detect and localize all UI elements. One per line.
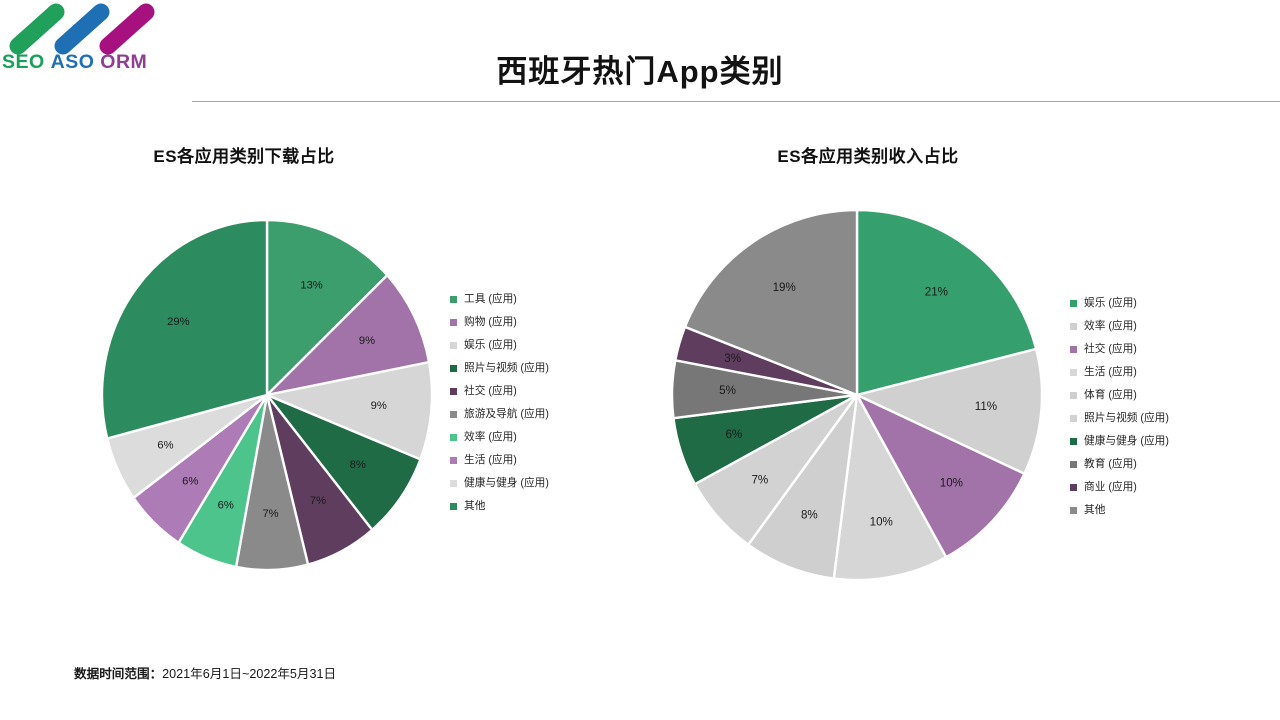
legend-item[interactable]: 娱乐 (应用) bbox=[450, 334, 630, 357]
page-title: 西班牙热门App类别 bbox=[190, 52, 1090, 92]
legend-item-label: 健康与健身 (应用) bbox=[1084, 436, 1169, 447]
pie-slice-label: 8% bbox=[801, 508, 818, 521]
chart-panel-downloads: ES各应用类别下载占比 13%9%9%8%7%7%6%6%6%29% 工具 (应… bbox=[60, 120, 620, 640]
legend-item-label: 娱乐 (应用) bbox=[1084, 298, 1137, 309]
legend-item-label: 照片与视频 (应用) bbox=[464, 363, 549, 374]
chart-title-revenue: ES各应用类别收入占比 bbox=[568, 142, 1168, 167]
legend-item[interactable]: 社交 (应用) bbox=[450, 380, 630, 403]
logo-wordmark: SEO ASO ORM bbox=[2, 51, 178, 77]
legend-item[interactable]: 健康与健身 (应用) bbox=[450, 472, 630, 495]
pie-slice-label: 6% bbox=[157, 440, 173, 452]
legend-item-label: 其他 bbox=[1084, 505, 1105, 516]
pie-slice-label: 7% bbox=[262, 508, 278, 520]
data-range-label: 数据时间范围： bbox=[74, 667, 162, 681]
legend-swatch-icon bbox=[1070, 484, 1077, 491]
legend-item-label: 旅游及导航 (应用) bbox=[464, 409, 549, 420]
brand-logo: SEO ASO ORM bbox=[0, 0, 180, 82]
legend-swatch-icon bbox=[450, 319, 457, 326]
legend-swatch-icon bbox=[450, 296, 457, 303]
pie-slice-label: 13% bbox=[300, 280, 322, 292]
pie-slice-label: 10% bbox=[940, 477, 963, 490]
legend-item-label: 照片与视频 (应用) bbox=[1084, 413, 1169, 424]
legend-item[interactable]: 社交 (应用) bbox=[1070, 338, 1260, 361]
legend-swatch-icon bbox=[450, 388, 457, 395]
pie-slice-label: 9% bbox=[359, 335, 375, 347]
logo-word-seo: SEO bbox=[2, 51, 45, 74]
pie-slice-label: 6% bbox=[218, 500, 234, 512]
legend-item-label: 效率 (应用) bbox=[1084, 321, 1137, 332]
pie-slice-label: 11% bbox=[975, 400, 997, 413]
legend-swatch-icon bbox=[1070, 461, 1077, 468]
legend-item-label: 生活 (应用) bbox=[464, 455, 517, 466]
legend-swatch-icon bbox=[1070, 415, 1077, 422]
legend-item[interactable]: 效率 (应用) bbox=[450, 426, 630, 449]
header-divider bbox=[192, 101, 1280, 102]
pie-chart-revenue-svg: 21%11%10%10%8%7%6%5%3%19% bbox=[672, 210, 1042, 580]
legend-item-label: 其他 bbox=[464, 501, 485, 512]
data-range-value: 2021年6月1日~2022年5月31日 bbox=[162, 667, 336, 681]
pie-slice-label: 3% bbox=[724, 352, 741, 365]
legend-item[interactable]: 购物 (应用) bbox=[450, 311, 630, 334]
legend-item[interactable]: 商业 (应用) bbox=[1070, 476, 1260, 499]
legend-item-label: 生活 (应用) bbox=[1084, 367, 1137, 378]
legend-item[interactable]: 其他 bbox=[1070, 499, 1260, 522]
legend-swatch-icon bbox=[1070, 507, 1077, 514]
legend-item[interactable]: 旅游及导航 (应用) bbox=[450, 403, 630, 426]
legend-item-label: 健康与健身 (应用) bbox=[464, 478, 549, 489]
legend-swatch-icon bbox=[450, 365, 457, 372]
legend-item[interactable]: 生活 (应用) bbox=[1070, 361, 1260, 384]
legend-item-label: 体育 (应用) bbox=[1084, 390, 1137, 401]
logo-word-orm: ORM bbox=[100, 51, 147, 74]
pie-chart-downloads: 13%9%9%8%7%7%6%6%6%29% bbox=[102, 220, 432, 570]
legend-swatch-icon bbox=[450, 411, 457, 418]
legend-item[interactable]: 娱乐 (应用) bbox=[1070, 292, 1260, 315]
legend-item[interactable]: 其他 bbox=[450, 495, 630, 518]
legend-item-label: 购物 (应用) bbox=[464, 317, 517, 328]
legend-swatch-icon bbox=[1070, 392, 1077, 399]
pie-chart-downloads-svg: 13%9%9%8%7%7%6%6%6%29% bbox=[102, 220, 432, 570]
pie-slice-label: 10% bbox=[870, 515, 893, 528]
legend-swatch-icon bbox=[1070, 369, 1077, 376]
logo-word-aso: ASO bbox=[51, 51, 95, 74]
pie-slice-label: 9% bbox=[371, 400, 387, 412]
legend-swatch-icon bbox=[450, 503, 457, 510]
data-range-footer: 数据时间范围：2021年6月1日~2022年5月31日 bbox=[74, 663, 336, 682]
legend-swatch-icon bbox=[450, 457, 457, 464]
legend-swatch-icon bbox=[1070, 346, 1077, 353]
legend-item-label: 社交 (应用) bbox=[1084, 344, 1137, 355]
legend-item-label: 效率 (应用) bbox=[464, 432, 517, 443]
chart-panel-revenue: ES各应用类别收入占比 21%11%10%10%8%7%6%5%3%19% 娱乐… bbox=[650, 120, 1250, 640]
legend-revenue: 娱乐 (应用)效率 (应用)社交 (应用)生活 (应用)体育 (应用)照片与视频… bbox=[1070, 292, 1260, 522]
legend-item-label: 社交 (应用) bbox=[464, 386, 517, 397]
legend-swatch-icon bbox=[1070, 438, 1077, 445]
legend-item-label: 工具 (应用) bbox=[464, 294, 517, 305]
pie-slice-label: 7% bbox=[310, 495, 326, 507]
legend-item[interactable]: 健康与健身 (应用) bbox=[1070, 430, 1260, 453]
legend-item-label: 娱乐 (应用) bbox=[464, 340, 517, 351]
legend-item[interactable]: 工具 (应用) bbox=[450, 288, 630, 311]
legend-swatch-icon bbox=[450, 434, 457, 441]
legend-item[interactable]: 照片与视频 (应用) bbox=[1070, 407, 1260, 430]
chart-title-downloads: ES各应用类别下载占比 bbox=[0, 142, 524, 167]
pie-slice-label: 6% bbox=[725, 428, 742, 441]
legend-swatch-icon bbox=[1070, 323, 1077, 330]
pie-slice-label: 5% bbox=[719, 384, 736, 397]
legend-swatch-icon bbox=[1070, 300, 1077, 307]
pie-slice-label: 21% bbox=[925, 286, 948, 299]
pie-slice-label: 8% bbox=[350, 459, 366, 471]
legend-item-label: 商业 (应用) bbox=[1084, 482, 1137, 493]
pie-slice-label: 7% bbox=[751, 474, 768, 487]
pie-chart-revenue: 21%11%10%10%8%7%6%5%3%19% bbox=[672, 210, 1042, 580]
pie-slice-label: 19% bbox=[773, 281, 796, 294]
legend-swatch-icon bbox=[450, 342, 457, 349]
legend-item[interactable]: 生活 (应用) bbox=[450, 449, 630, 472]
pie-slice-label: 29% bbox=[167, 316, 189, 328]
legend-item-label: 教育 (应用) bbox=[1084, 459, 1137, 470]
legend-downloads: 工具 (应用)购物 (应用)娱乐 (应用)照片与视频 (应用)社交 (应用)旅游… bbox=[450, 288, 630, 518]
legend-item[interactable]: 效率 (应用) bbox=[1070, 315, 1260, 338]
legend-item[interactable]: 照片与视频 (应用) bbox=[450, 357, 630, 380]
logo-mark-icon bbox=[2, 2, 174, 56]
pie-slice-label: 6% bbox=[182, 476, 198, 488]
legend-item[interactable]: 体育 (应用) bbox=[1070, 384, 1260, 407]
legend-item[interactable]: 教育 (应用) bbox=[1070, 453, 1260, 476]
legend-swatch-icon bbox=[450, 480, 457, 487]
